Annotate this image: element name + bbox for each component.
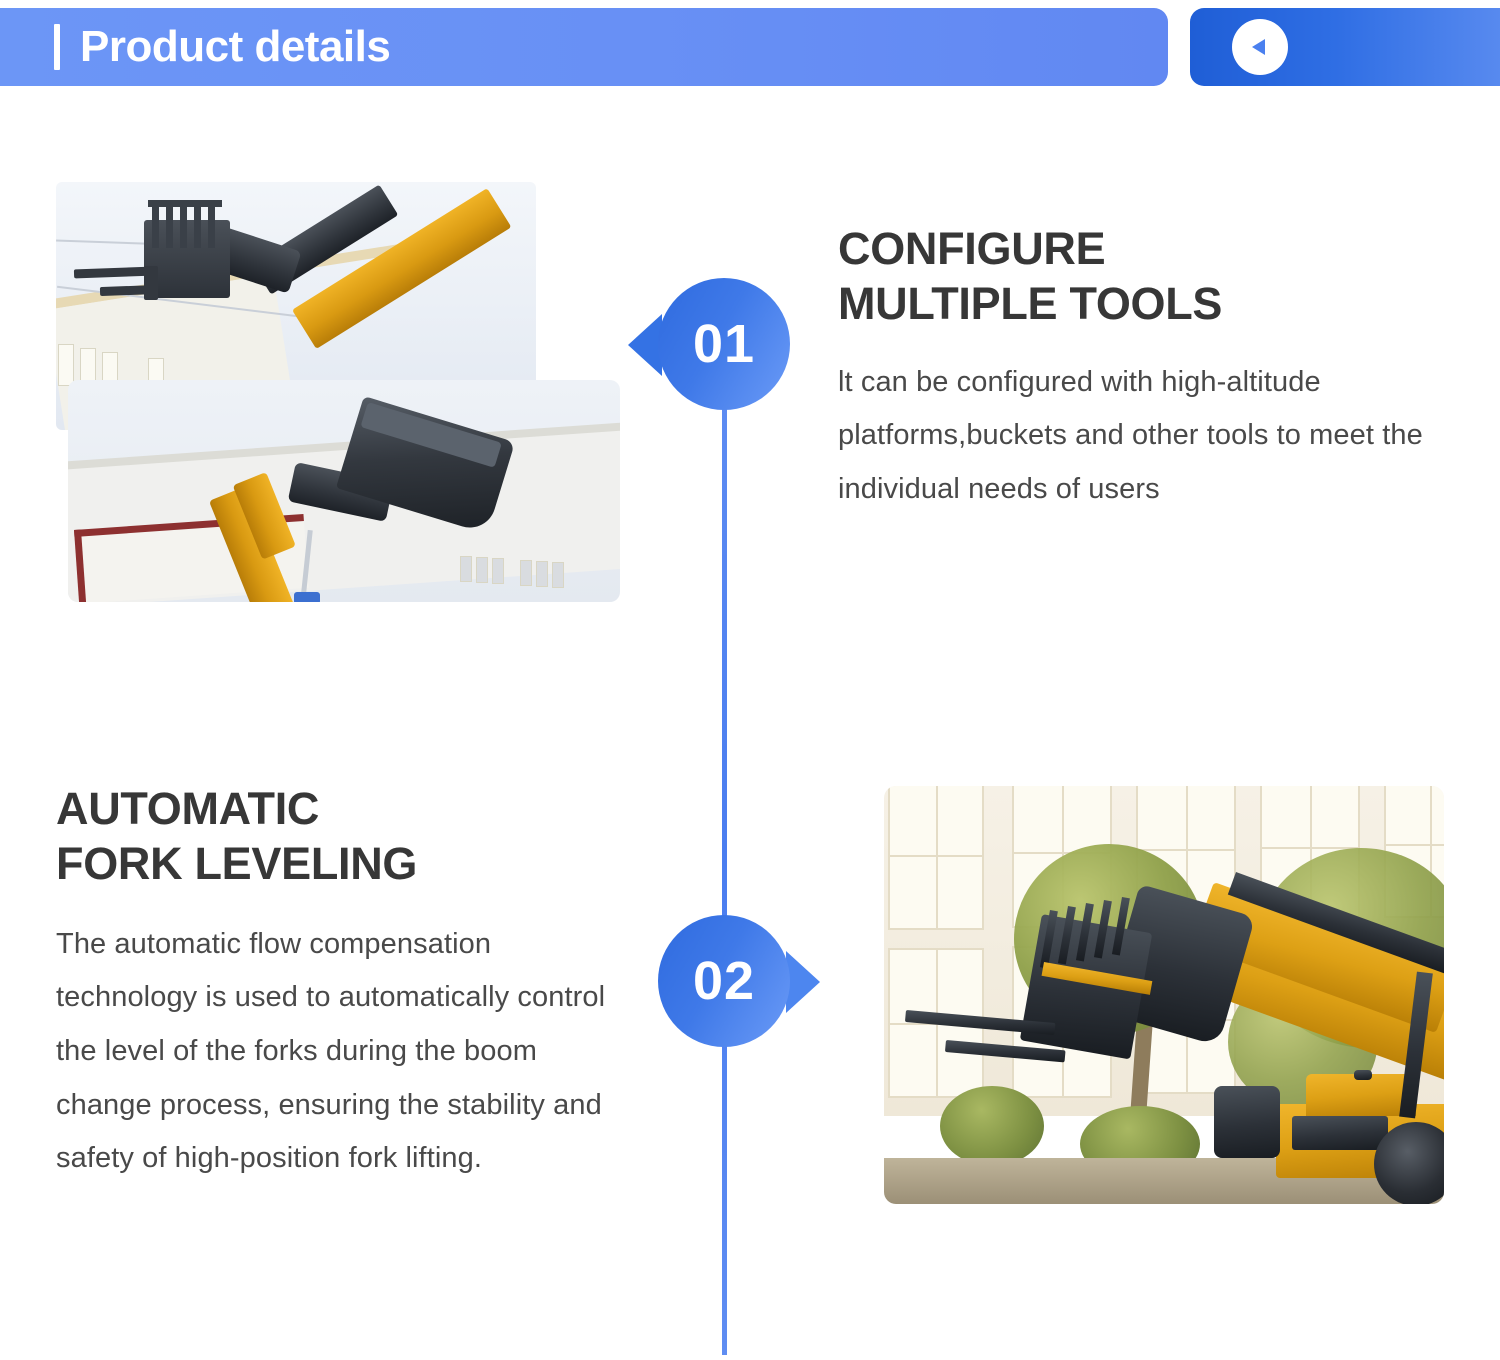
previous-button[interactable] [1190,8,1500,86]
section-02-heading: AUTOMATIC FORK LEVELING [56,782,636,892]
badge-01-number: 01 [693,313,755,375]
badge-02-number: 02 [693,950,755,1012]
section-01-heading-line-2: MULTIPLE TOOLS [838,277,1463,332]
step-badge-01: 01 [658,278,790,410]
section-02-text-block: AUTOMATIC FORK LEVELING The automatic fl… [56,782,636,1186]
section-01-text-block: CONFIGURE MULTIPLE TOOLS lt can be confi… [838,222,1463,517]
badge-02-pointer [786,951,820,1013]
section-01-image-group [56,182,616,602]
section-01-heading-line-1: CONFIGURE [838,222,1463,277]
photo-bucket-attachment [68,380,620,602]
section-01-body: lt can be configured with high-altitude … [838,356,1463,517]
header-title-bar: Product details [0,8,1168,86]
section-02-heading-line-2: FORK LEVELING [56,837,636,892]
section-02-body: The automatic flow compensation technolo… [56,918,636,1186]
section-01-heading: CONFIGURE MULTIPLE TOOLS [838,222,1463,332]
badge-01-circle: 01 [658,278,790,410]
title-accent-bar [54,24,60,70]
badge-01-pointer [628,314,662,376]
page-header: Product details [0,8,1500,86]
timeline-connector-line [722,355,727,1355]
step-badge-02: 02 [658,915,790,1047]
photo-telehandler-forks [884,786,1444,1204]
page-title: Product details [80,22,390,72]
section-02-heading-line-1: AUTOMATIC [56,782,636,837]
back-triangle-icon[interactable] [1232,19,1288,75]
product-details-page: Product details [0,0,1500,1360]
badge-02-circle: 02 [658,915,790,1047]
